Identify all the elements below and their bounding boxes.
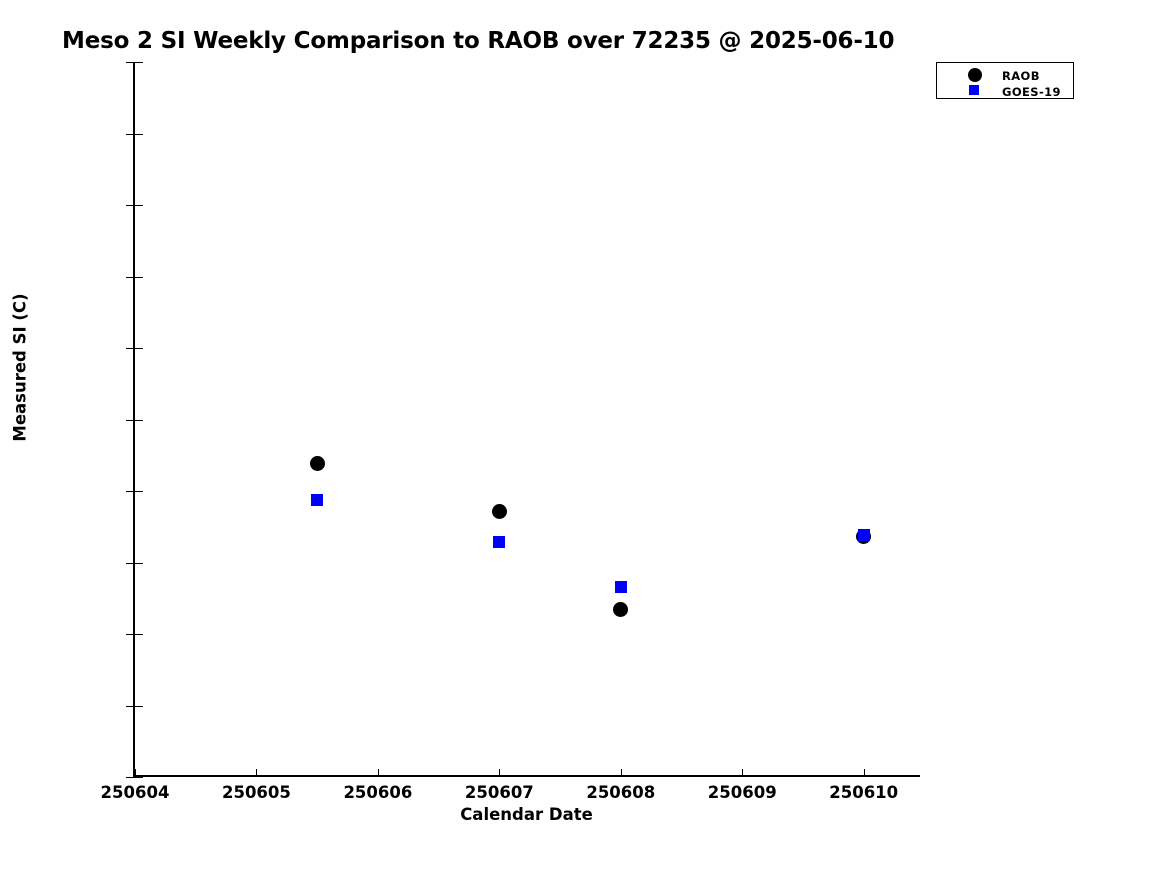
y-tick-mark — [126, 277, 135, 278]
y-tick-mark-inner — [135, 777, 143, 778]
y-tick-mark — [126, 777, 135, 778]
y-tick-mark-inner — [135, 563, 143, 564]
y-tick-mark — [126, 563, 135, 564]
chart-figure: Meso 2 SI Weekly Comparison to RAOB over… — [0, 0, 1167, 875]
data-point-goes-19 — [311, 494, 323, 506]
plot-area: 35302520151050-5-10-15 25060425060525060… — [133, 62, 920, 777]
legend-item-goes-19: GOES-19 — [937, 83, 1073, 100]
y-tick-mark — [126, 706, 135, 707]
x-tick-label: 250610 — [784, 783, 944, 802]
x-tick-mark — [864, 769, 865, 777]
legend-item-raob: RAOB — [937, 67, 1073, 84]
y-tick-mark-inner — [135, 277, 143, 278]
y-tick-mark — [126, 62, 135, 63]
chart-title: Meso 2 SI Weekly Comparison to RAOB over… — [62, 28, 894, 54]
data-point-raob — [492, 504, 507, 519]
y-tick-mark-inner — [135, 706, 143, 707]
x-tick-mark — [256, 769, 257, 777]
y-tick-mark — [126, 634, 135, 635]
y-tick-mark-inner — [135, 348, 143, 349]
x-tick-mark — [499, 769, 500, 777]
y-tick-mark-inner — [135, 62, 143, 63]
chart-legend: RAOBGOES-19 — [936, 62, 1074, 99]
y-tick-mark-inner — [135, 420, 143, 421]
data-point-goes-19 — [615, 581, 627, 593]
y-tick-mark-inner — [135, 134, 143, 135]
y-tick-mark — [126, 205, 135, 206]
y-tick-mark — [126, 348, 135, 349]
y-tick-mark-inner — [135, 634, 143, 635]
x-tick-mark — [135, 769, 136, 777]
data-point-raob — [310, 456, 325, 471]
legend-label: GOES-19 — [1002, 85, 1061, 99]
y-axis-title: Measured SI (C) — [11, 68, 30, 668]
data-point-goes-19 — [493, 536, 505, 548]
data-point-goes-19 — [858, 529, 870, 541]
y-tick-mark-inner — [135, 491, 143, 492]
y-tick-mark — [126, 491, 135, 492]
data-point-raob — [613, 602, 628, 617]
legend-marker-circle-icon — [968, 68, 982, 82]
y-tick-mark — [126, 420, 135, 421]
y-tick-mark-inner — [135, 205, 143, 206]
legend-label: RAOB — [1002, 69, 1040, 83]
y-tick-mark — [126, 134, 135, 135]
x-tick-mark — [378, 769, 379, 777]
x-tick-mark — [742, 769, 743, 777]
legend-marker-square-icon — [969, 85, 979, 95]
x-axis-title: Calendar Date — [133, 805, 920, 824]
x-tick-mark — [621, 769, 622, 777]
